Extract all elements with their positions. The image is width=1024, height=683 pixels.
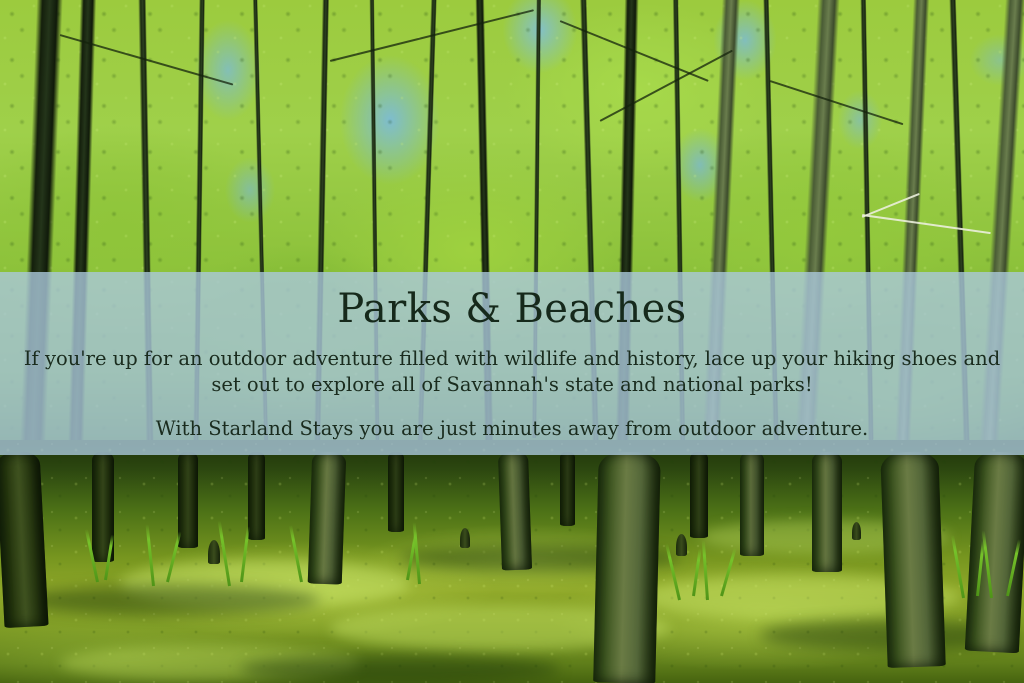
cypress-trunk [498,452,532,571]
cypress-trunk [388,452,404,532]
cypress-knee [676,534,687,556]
cypress-trunk [560,452,575,526]
cypress-knee [460,528,470,548]
cypress-knee [852,522,861,540]
cypress-trunk [248,452,265,540]
promotional-banner: Parks & Beaches If you're up for an outd… [0,0,1024,683]
overlay-title: Parks & Beaches [0,288,1024,330]
text-overlay-band: Parks & Beaches If you're up for an outd… [0,272,1024,455]
floor-shadow [240,655,560,683]
overlay-paragraph-2: With Starland Stays you are just minutes… [10,416,1014,442]
cypress-trunk [690,452,708,538]
cypress-trunk [308,451,347,584]
cypress-knee [208,540,220,564]
floor-shadow [20,585,320,615]
cypress-trunk [880,451,945,668]
cypress-trunk [593,451,661,683]
overlay-paragraph-1: If you're up for an outdoor adventure fi… [10,346,1014,398]
cypress-trunk [812,452,842,572]
cypress-trunk [740,452,764,556]
